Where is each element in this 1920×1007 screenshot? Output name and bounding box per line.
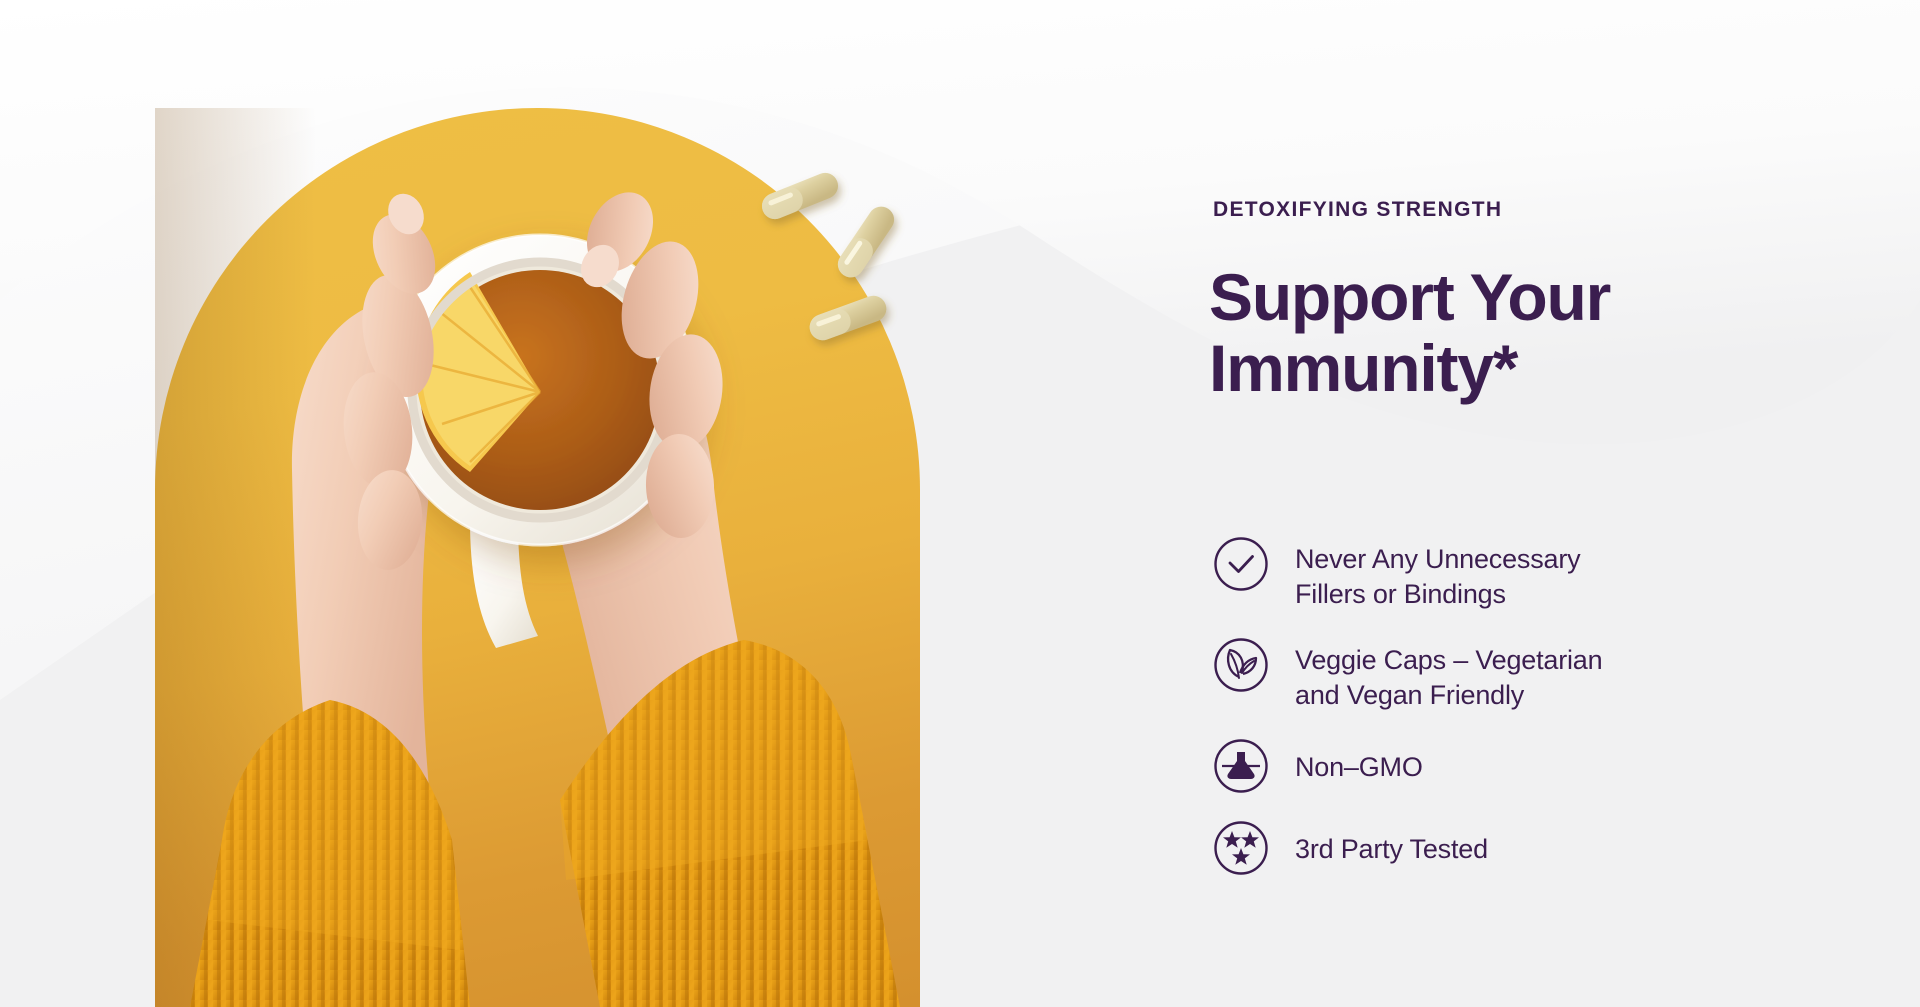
feature-item-non-gmo: Non–GMO [1213, 738, 1833, 794]
feature-list: Never Any Unnecessary Fillers or Binding… [1213, 536, 1833, 876]
feature-item-fillers: Never Any Unnecessary Fillers or Binding… [1213, 536, 1833, 611]
feature-line: and Vegan Friendly [1295, 680, 1524, 710]
feature-item-veggie-caps: Veggie Caps – Vegetarian and Vegan Frien… [1213, 637, 1833, 712]
feature-label: Never Any Unnecessary Fillers or Binding… [1295, 536, 1580, 611]
promo-banner: DETOXIFYING STRENGTH Support Your Immuni… [0, 0, 1920, 1007]
feature-line: Non–GMO [1295, 752, 1423, 782]
supplement-capsules [758, 169, 899, 344]
leaf-circle-icon [1213, 637, 1269, 693]
headline-line-2: Immunity* [1209, 331, 1517, 405]
stars-circle-icon [1213, 820, 1269, 876]
feature-item-3rd-party-tested: 3rd Party Tested [1213, 820, 1833, 876]
content-column: DETOXIFYING STRENGTH Support Your Immuni… [1213, 0, 1833, 1007]
eyebrow-text: DETOXIFYING STRENGTH [1213, 198, 1502, 222]
feature-label: 3rd Party Tested [1295, 820, 1488, 867]
flask-circle-icon [1213, 738, 1269, 794]
feature-line: Veggie Caps – Vegetarian [1295, 645, 1602, 675]
feature-line: Fillers or Bindings [1295, 579, 1506, 609]
page-title: Support Your Immunity* [1209, 262, 1610, 405]
feature-line: Never Any Unnecessary [1295, 544, 1580, 574]
lifestyle-photo [0, 0, 1100, 1007]
feature-line: 3rd Party Tested [1295, 834, 1488, 864]
check-circle-icon [1213, 536, 1269, 592]
feature-label: Non–GMO [1295, 738, 1423, 785]
headline-line-1: Support Your [1209, 260, 1610, 334]
feature-label: Veggie Caps – Vegetarian and Vegan Frien… [1295, 637, 1602, 712]
